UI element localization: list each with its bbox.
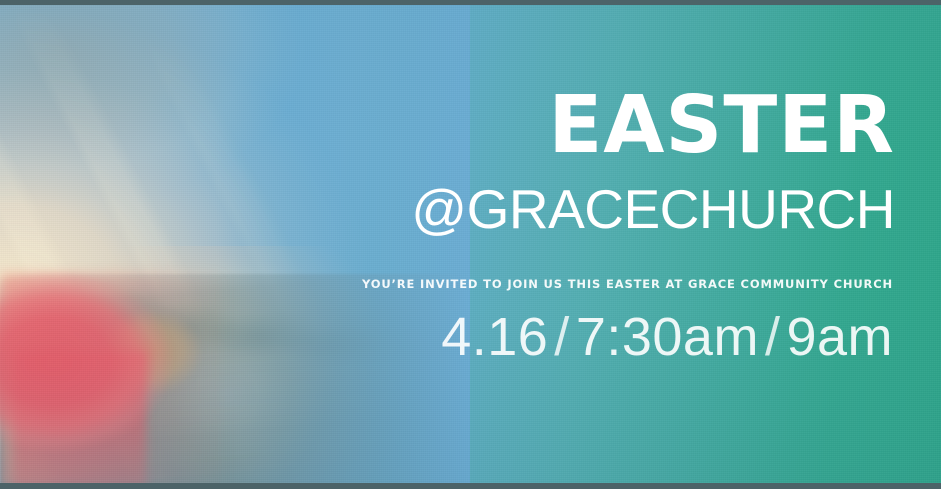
service-time-second: 9am	[786, 307, 893, 367]
service-time-first: 7:30am	[576, 307, 759, 367]
bottom-edge-bar	[0, 483, 941, 489]
subheadline-gracechurch: @GRACECHURCH	[411, 182, 895, 237]
service-datetime-line: 4.16/7:30am/9am	[441, 306, 893, 368]
datetime-separator-1: /	[548, 307, 576, 367]
easter-promo-banner: EASTER @GRACECHURCH YOU’RE INVITED TO JO…	[0, 0, 941, 489]
top-edge-bar	[0, 0, 941, 5]
headline-easter: EASTER	[548, 86, 895, 165]
service-date: 4.16	[441, 307, 548, 367]
promo-text-block: EASTER @GRACECHURCH YOU’RE INVITED TO JO…	[0, 0, 941, 489]
datetime-separator-2: /	[759, 307, 787, 367]
invitation-tagline: YOU’RE INVITED TO JOIN US THIS EASTER AT…	[362, 279, 893, 291]
